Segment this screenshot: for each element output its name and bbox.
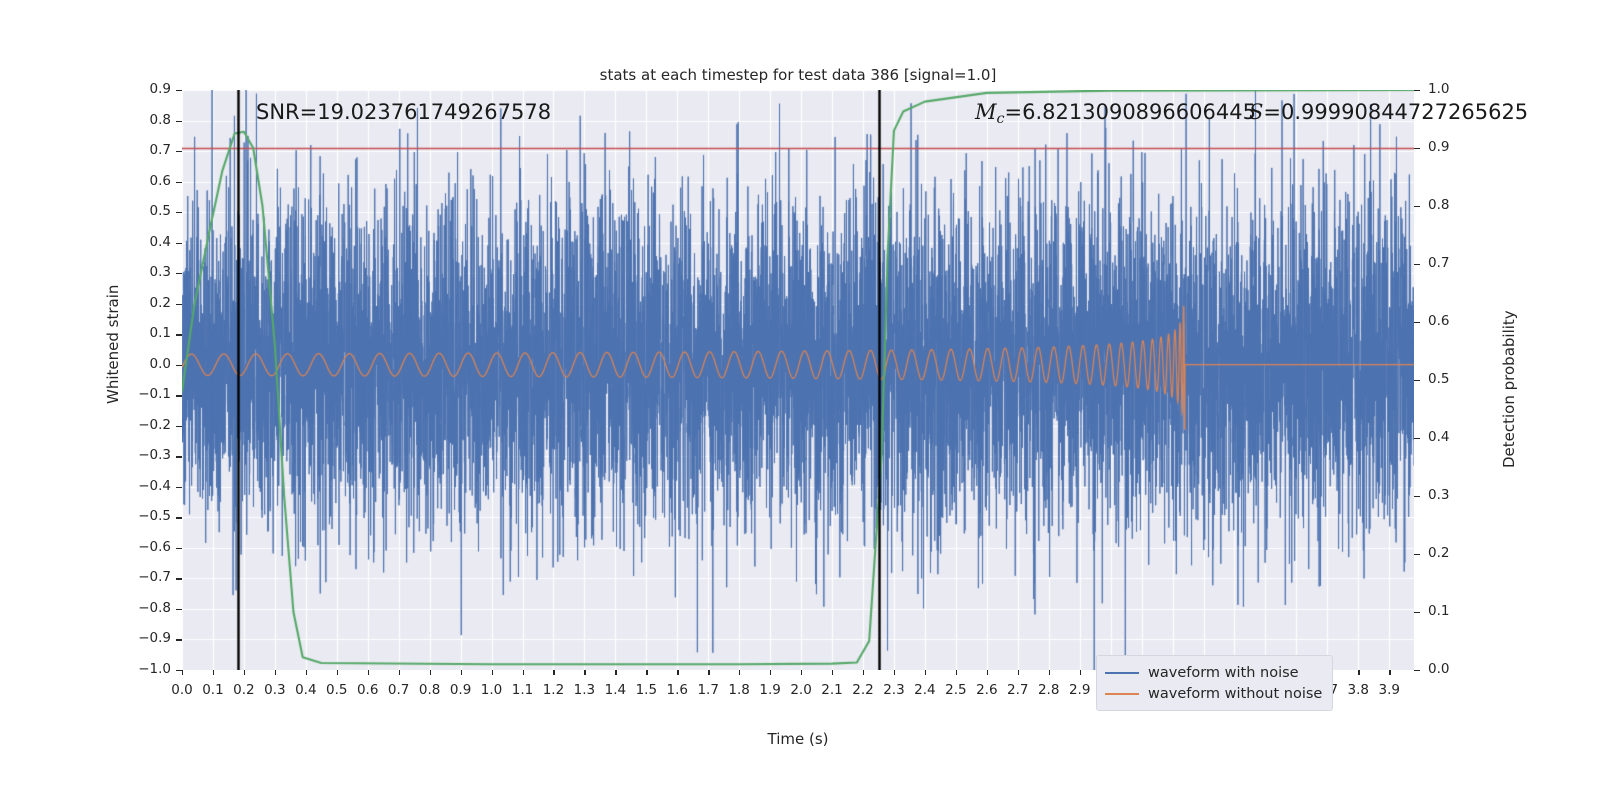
x-tick-mark <box>615 670 616 675</box>
x-tick-mark <box>677 670 678 675</box>
x-tick-mark <box>708 670 709 675</box>
x-tick-mark <box>430 670 431 675</box>
legend-label: waveform with noise <box>1148 665 1299 681</box>
y-tick-label-left: −0.1 <box>138 386 171 402</box>
legend-label: waveform without noise <box>1148 686 1322 702</box>
y-tick-mark-right <box>1414 612 1420 613</box>
x-tick-mark <box>801 670 802 675</box>
y-tick-label-right: 0.9 <box>1428 139 1449 155</box>
y-tick-mark-right <box>1414 322 1420 323</box>
plot-area <box>182 90 1414 670</box>
x-tick-mark <box>244 670 245 675</box>
y-tick-label-left: −0.5 <box>138 508 171 524</box>
x-tick-mark <box>1049 670 1050 675</box>
y-tick-label-left: −0.4 <box>138 478 171 494</box>
y-tick-mark-left <box>176 212 182 213</box>
y-tick-mark-left <box>176 456 182 457</box>
y-tick-mark-left <box>176 182 182 183</box>
x-tick-label: 3.9 <box>1367 682 1411 698</box>
y-tick-mark-left <box>176 487 182 488</box>
y-tick-mark-left <box>176 426 182 427</box>
annotation-chirp-mass: Mc=6.8213090896606445 <box>975 100 1256 127</box>
legend-swatch-icon <box>1105 693 1139 695</box>
y-tick-mark-right <box>1414 670 1420 671</box>
y-tick-mark-right <box>1414 206 1420 207</box>
y-tick-label-left: 0.2 <box>150 295 171 311</box>
figure-root: stats at each timestep for test data 386… <box>0 0 1600 800</box>
legend: waveform with noise waveform without noi… <box>1096 655 1333 711</box>
y-axis-label-right: Detection probability <box>1500 310 1518 468</box>
x-tick-mark <box>461 670 462 675</box>
y-tick-mark-right <box>1414 554 1420 555</box>
annotation-score: S=0.99990844727265625 <box>1249 100 1528 124</box>
y-tick-label-left: −0.6 <box>138 539 171 555</box>
y-tick-mark-left <box>176 334 182 335</box>
y-tick-mark-left <box>176 121 182 122</box>
y-tick-mark-left <box>176 578 182 579</box>
annotation-snr: SNR=19.023761749267578 <box>256 100 551 124</box>
y-tick-label-left: −1.0 <box>138 661 171 677</box>
y-tick-label-left: 0.0 <box>150 356 171 372</box>
x-tick-mark <box>987 670 988 675</box>
x-tick-mark <box>584 670 585 675</box>
x-tick-mark <box>368 670 369 675</box>
y-tick-label-right: 0.7 <box>1428 255 1449 271</box>
y-tick-mark-right <box>1414 438 1420 439</box>
y-tick-mark-right <box>1414 148 1420 149</box>
x-tick-mark <box>770 670 771 675</box>
legend-item-waveform-with-noise: waveform with noise <box>1105 662 1322 683</box>
y-tick-label-left: 0.3 <box>150 264 171 280</box>
x-tick-mark <box>956 670 957 675</box>
y-tick-mark-right <box>1414 264 1420 265</box>
y-tick-mark-left <box>176 90 182 91</box>
y-tick-label-left: 0.6 <box>150 173 171 189</box>
y-tick-mark-left <box>176 273 182 274</box>
y-tick-label-left: −0.2 <box>138 417 171 433</box>
y-tick-mark-left <box>176 243 182 244</box>
y-tick-label-left: −0.3 <box>138 447 171 463</box>
x-tick-mark <box>739 670 740 675</box>
x-tick-mark <box>213 670 214 675</box>
x-tick-mark <box>275 670 276 675</box>
x-tick-mark <box>306 670 307 675</box>
x-tick-mark <box>894 670 895 675</box>
y-tick-label-left: −0.7 <box>138 569 171 585</box>
x-tick-mark <box>492 670 493 675</box>
y-tick-label-left: −0.8 <box>138 600 171 616</box>
y-tick-label-left: 0.4 <box>150 234 171 250</box>
x-tick-mark <box>1358 670 1359 675</box>
y-tick-mark-left <box>176 609 182 610</box>
y-tick-mark-left <box>176 395 182 396</box>
x-tick-mark <box>182 670 183 675</box>
y-tick-label-left: 0.7 <box>150 142 171 158</box>
y-tick-mark-left <box>176 151 182 152</box>
y-tick-mark-left <box>176 548 182 549</box>
x-tick-mark <box>832 670 833 675</box>
y-tick-label-left: −0.9 <box>138 630 171 646</box>
x-tick-mark <box>925 670 926 675</box>
legend-swatch-icon <box>1105 672 1139 674</box>
y-tick-label-left: 0.5 <box>150 203 171 219</box>
x-tick-mark <box>1389 670 1390 675</box>
y-tick-label-left: 0.1 <box>150 325 171 341</box>
y-tick-label-right: 0.3 <box>1428 487 1449 503</box>
y-tick-label-left: 0.9 <box>150 81 171 97</box>
legend-item-waveform-without-noise: waveform without noise <box>1105 683 1322 704</box>
chart-title: stats at each timestep for test data 386… <box>182 66 1414 84</box>
x-tick-mark <box>337 670 338 675</box>
y-tick-label-right: 0.4 <box>1428 429 1449 445</box>
x-tick-mark <box>863 670 864 675</box>
y-tick-mark-left <box>176 639 182 640</box>
y-axis-label-left: Whitened strain <box>104 285 122 404</box>
y-tick-label-right: 0.1 <box>1428 603 1449 619</box>
plot-canvas <box>182 90 1414 670</box>
x-tick-mark <box>646 670 647 675</box>
y-tick-mark-right <box>1414 90 1420 91</box>
y-tick-label-right: 0.0 <box>1428 661 1449 677</box>
y-tick-label-right: 0.8 <box>1428 197 1449 213</box>
y-tick-label-right: 0.2 <box>1428 545 1449 561</box>
x-tick-mark <box>523 670 524 675</box>
y-tick-mark-right <box>1414 380 1420 381</box>
y-tick-mark-left <box>176 365 182 366</box>
y-tick-mark-left <box>176 517 182 518</box>
y-tick-label-right: 0.6 <box>1428 313 1449 329</box>
x-tick-mark <box>553 670 554 675</box>
y-tick-mark-right <box>1414 496 1420 497</box>
y-tick-mark-left <box>176 304 182 305</box>
y-tick-label-left: 0.8 <box>150 112 171 128</box>
x-tick-mark <box>1080 670 1081 675</box>
x-axis-label: Time (s) <box>182 730 1414 748</box>
y-tick-label-right: 0.5 <box>1428 371 1449 387</box>
y-tick-label-right: 1.0 <box>1428 81 1449 97</box>
x-tick-mark <box>1018 670 1019 675</box>
x-tick-mark <box>399 670 400 675</box>
